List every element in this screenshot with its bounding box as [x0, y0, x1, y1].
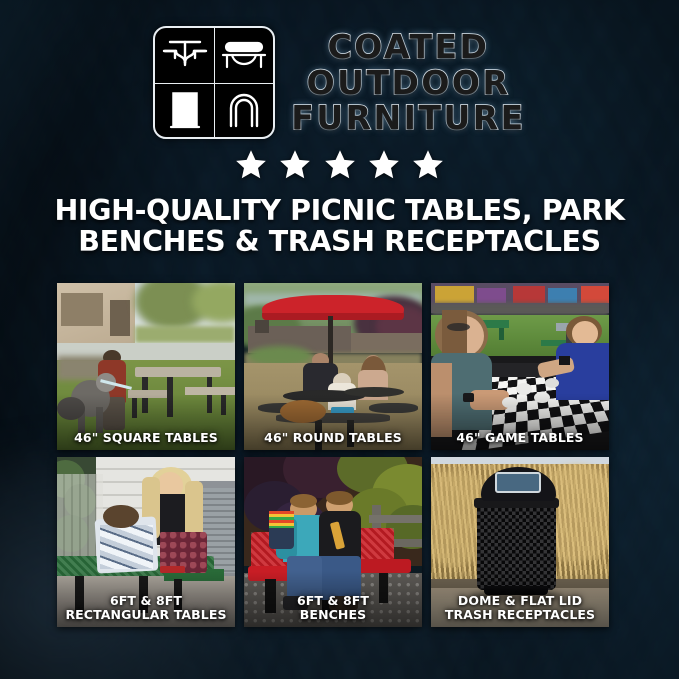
wordmark-line-2: OUTDOOR [307, 66, 511, 100]
caption-line-1: 6FT & 8FT [297, 593, 369, 608]
caption-line-1: DOME & FLAT LID [458, 593, 582, 608]
star-icon [278, 148, 312, 181]
star-icon [367, 148, 401, 181]
star-rating [0, 148, 679, 185]
star-icon [323, 148, 357, 181]
product-tile-rectangular-tables[interactable]: 6FT & 8FT RECTANGULAR TABLES [57, 457, 235, 627]
star-icon [411, 148, 445, 181]
caption-line-2: TRASH RECEPTACLES [435, 608, 605, 622]
logo-icon-grid [153, 26, 275, 139]
product-tile-round-tables[interactable]: 46" ROUND TABLES [244, 283, 422, 450]
product-caption: DOME & FLAT LID TRASH RECEPTACLES [431, 594, 609, 621]
header: COATED OUTDOOR FURNITURE HIGH-QUALITY PI… [0, 0, 679, 258]
caption-line-1: 46" GAME TABLES [456, 430, 583, 445]
product-tile-game-tables[interactable]: 46" GAME TABLES [431, 283, 609, 450]
bike-rack-icon [214, 83, 273, 138]
page-title: HIGH-QUALITY PICNIC TABLES, PARK BENCHES… [0, 196, 679, 258]
wordmark-line-3: FURNITURE [291, 101, 525, 135]
brand-logo: COATED OUTDOOR FURNITURE [0, 0, 679, 139]
caption-line-1: 6FT & 8FT [110, 593, 182, 608]
headline-line-1: HIGH-QUALITY PICNIC TABLES, PARK [54, 194, 624, 227]
product-tile-benches[interactable]: 6FT & 8FT BENCHES [244, 457, 422, 627]
product-tile-square-tables[interactable]: 46" SQUARE TABLES [57, 283, 235, 450]
wordmark-line-1: COATED [328, 30, 490, 64]
product-caption: 46" ROUND TABLES [244, 431, 422, 445]
brand-wordmark: COATED OUTDOOR FURNITURE [291, 30, 525, 135]
caption-line-1: 46" ROUND TABLES [264, 430, 402, 445]
product-caption: 6FT & 8FT BENCHES [244, 594, 422, 621]
park-bench-icon [214, 28, 273, 83]
product-caption: 46" GAME TABLES [431, 431, 609, 445]
caption-line-1: 46" SQUARE TABLES [74, 430, 218, 445]
star-icon [234, 148, 268, 181]
trash-receptacle-icon [155, 83, 214, 138]
picnic-table-icon [155, 28, 214, 83]
headline-line-2: BENCHES & TRASH RECEPTACLES [0, 227, 679, 258]
product-caption: 46" SQUARE TABLES [57, 431, 235, 445]
product-tile-trash-receptacles[interactable]: DOME & FLAT LID TRASH RECEPTACLES [431, 457, 609, 627]
caption-line-2: RECTANGULAR TABLES [61, 608, 231, 622]
caption-line-2: BENCHES [248, 608, 418, 622]
product-tile-grid: 46" SQUARE TABLES [57, 283, 623, 627]
product-caption: 6FT & 8FT RECTANGULAR TABLES [57, 594, 235, 621]
